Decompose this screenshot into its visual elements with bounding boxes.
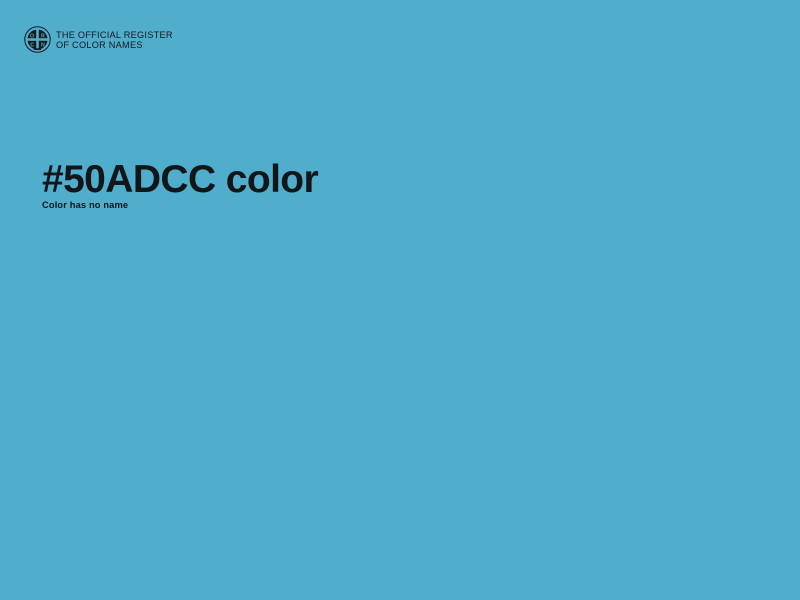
brand-wordmark-line-1: THE OFFICIAL REGISTER bbox=[56, 30, 173, 40]
brand-logo[interactable]: O R C N THE OFFICIAL REGISTER OF COLOR N… bbox=[24, 26, 173, 53]
svg-text:C: C bbox=[30, 43, 34, 49]
svg-text:R: R bbox=[41, 33, 45, 39]
brand-wordmark: THE OFFICIAL REGISTER OF COLOR NAMES bbox=[56, 30, 173, 51]
svg-text:N: N bbox=[41, 43, 45, 49]
register-seal-icon: O R C N bbox=[24, 26, 51, 53]
svg-text:O: O bbox=[30, 33, 34, 39]
color-swatch-background bbox=[0, 0, 800, 600]
page-title: #50ADCC color bbox=[42, 157, 318, 203]
brand-wordmark-line-2: OF COLOR NAMES bbox=[56, 40, 173, 50]
color-name-status: Color has no name bbox=[42, 199, 128, 211]
color-page: O R C N THE OFFICIAL REGISTER OF COLOR N… bbox=[0, 0, 800, 600]
